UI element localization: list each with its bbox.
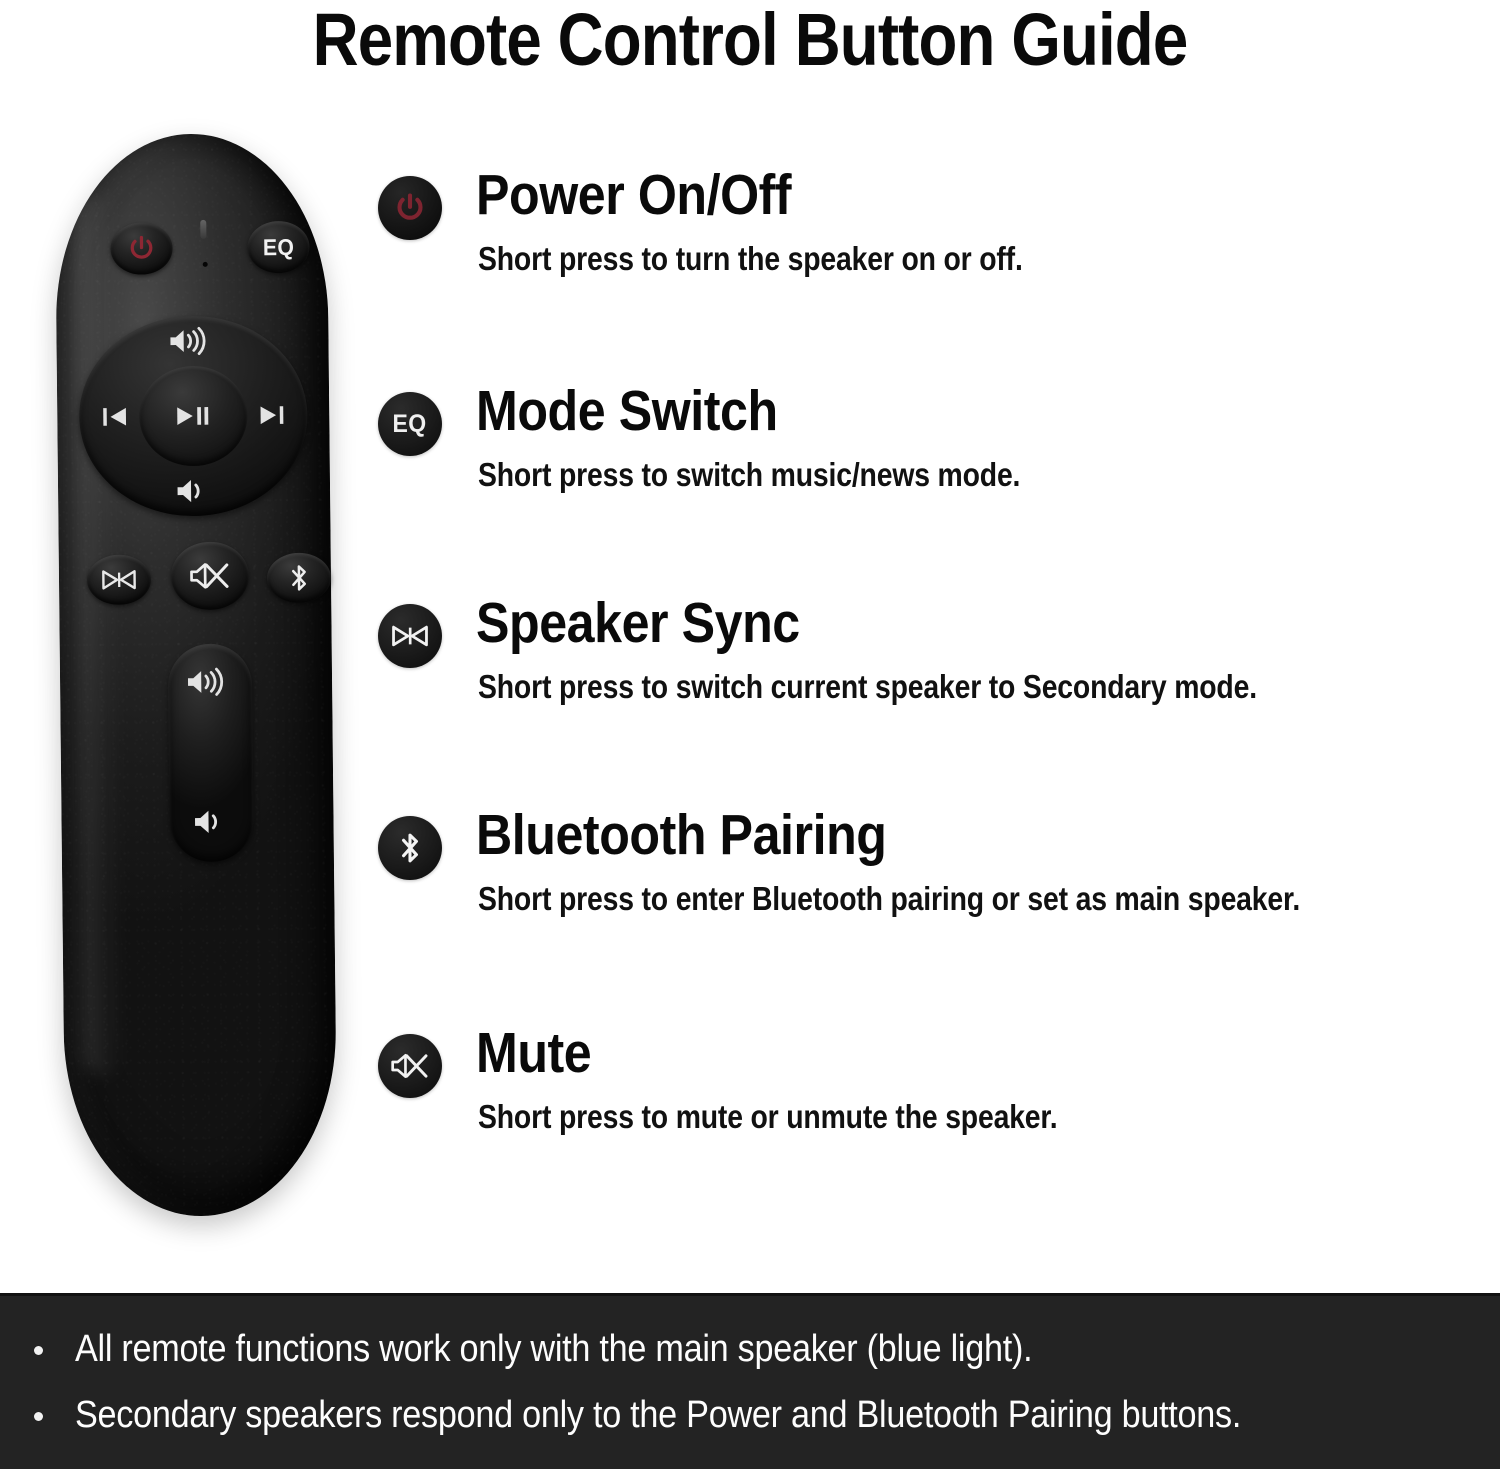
guide-icon-eq: EQ [378, 392, 442, 456]
remote-play-pause-glyph[interactable] [167, 396, 219, 437]
guide-title-power: Power On/Off [476, 160, 791, 230]
power-icon [126, 233, 156, 263]
guide-row-mute: Mute Short press to mute or unmute the s… [378, 1034, 1488, 1250]
mute-icon [188, 559, 232, 593]
bullet-icon [34, 1346, 43, 1355]
page-title: Remote Control Button Guide [105, 0, 1395, 84]
footer-note-list: All remote functions work only with the … [0, 1316, 1500, 1448]
footer-note-item: All remote functions work only with the … [0, 1316, 1500, 1382]
guide-title-bluetooth: Bluetooth Pairing [476, 800, 887, 870]
remote-volume-up-rocker[interactable] [175, 661, 245, 702]
volume-high-icon [185, 667, 235, 698]
guide-title-mode-switch: Mode Switch [476, 376, 778, 446]
led-indicator-icon [200, 220, 206, 239]
footer-note-text: All remote functions work only with the … [75, 1326, 1032, 1372]
guide-icon-sync [378, 604, 442, 668]
remote-body: EQ [54, 133, 337, 1218]
guide-title-mute: Mute [476, 1018, 591, 1088]
remote-volume-up-dpad[interactable] [157, 322, 227, 361]
eq-icon: EQ [393, 410, 427, 439]
footer-note-item: Secondary speakers respond only to the P… [0, 1382, 1500, 1448]
guide-title-speaker-sync: Speaker Sync [476, 588, 800, 658]
footer-note-text: Secondary speakers respond only to the P… [75, 1392, 1241, 1438]
guide-row-mode-switch: EQ Mode Switch Short press to switch mus… [378, 392, 1488, 608]
next-track-icon [256, 403, 286, 427]
guide-desc-speaker-sync: Short press to switch current speaker to… [478, 666, 1257, 708]
ir-sensor-dot-icon [203, 262, 208, 267]
guide-icon-power [378, 176, 442, 240]
volume-low-icon [172, 476, 216, 506]
guide-row-power: Power On/Off Short press to turn the spe… [378, 176, 1488, 392]
footer-notes-bar: All remote functions work only with the … [0, 1293, 1500, 1469]
bluetooth-icon [286, 562, 312, 594]
sync-bowtie-icon [391, 623, 429, 649]
play-pause-icon [174, 404, 212, 428]
guide-icon-bluetooth [378, 816, 442, 880]
sync-bowtie-icon [101, 568, 137, 592]
guide-row-bluetooth: Bluetooth Pairing Short press to enter B… [378, 816, 1488, 1032]
guide-desc-mute: Short press to mute or unmute the speake… [478, 1096, 1057, 1138]
mute-icon [389, 1050, 431, 1082]
guide-desc-mode-switch: Short press to switch music/news mode. [478, 454, 1020, 496]
remote-volume-down-rocker[interactable] [176, 801, 246, 842]
remote-control-image: EQ [52, 128, 342, 1223]
guide-desc-power: Short press to turn the speaker on or of… [478, 238, 1023, 280]
power-icon [393, 191, 427, 225]
bluetooth-icon [396, 830, 424, 866]
guide-row-speaker-sync: Speaker Sync Short press to switch curre… [378, 604, 1488, 820]
previous-track-icon [100, 405, 130, 429]
remote-previous-track-button[interactable] [93, 397, 137, 437]
volume-low-icon [189, 807, 233, 837]
remote-volume-down-dpad[interactable] [159, 472, 229, 511]
remote-volume-rocker[interactable] [168, 643, 254, 862]
guide-icon-mute [378, 1034, 442, 1098]
bullet-icon [34, 1412, 43, 1421]
volume-high-icon [167, 326, 217, 357]
guide-desc-bluetooth: Short press to enter Bluetooth pairing o… [478, 878, 1300, 920]
remote-next-track-button[interactable] [249, 395, 293, 435]
eq-icon: EQ [263, 233, 295, 260]
